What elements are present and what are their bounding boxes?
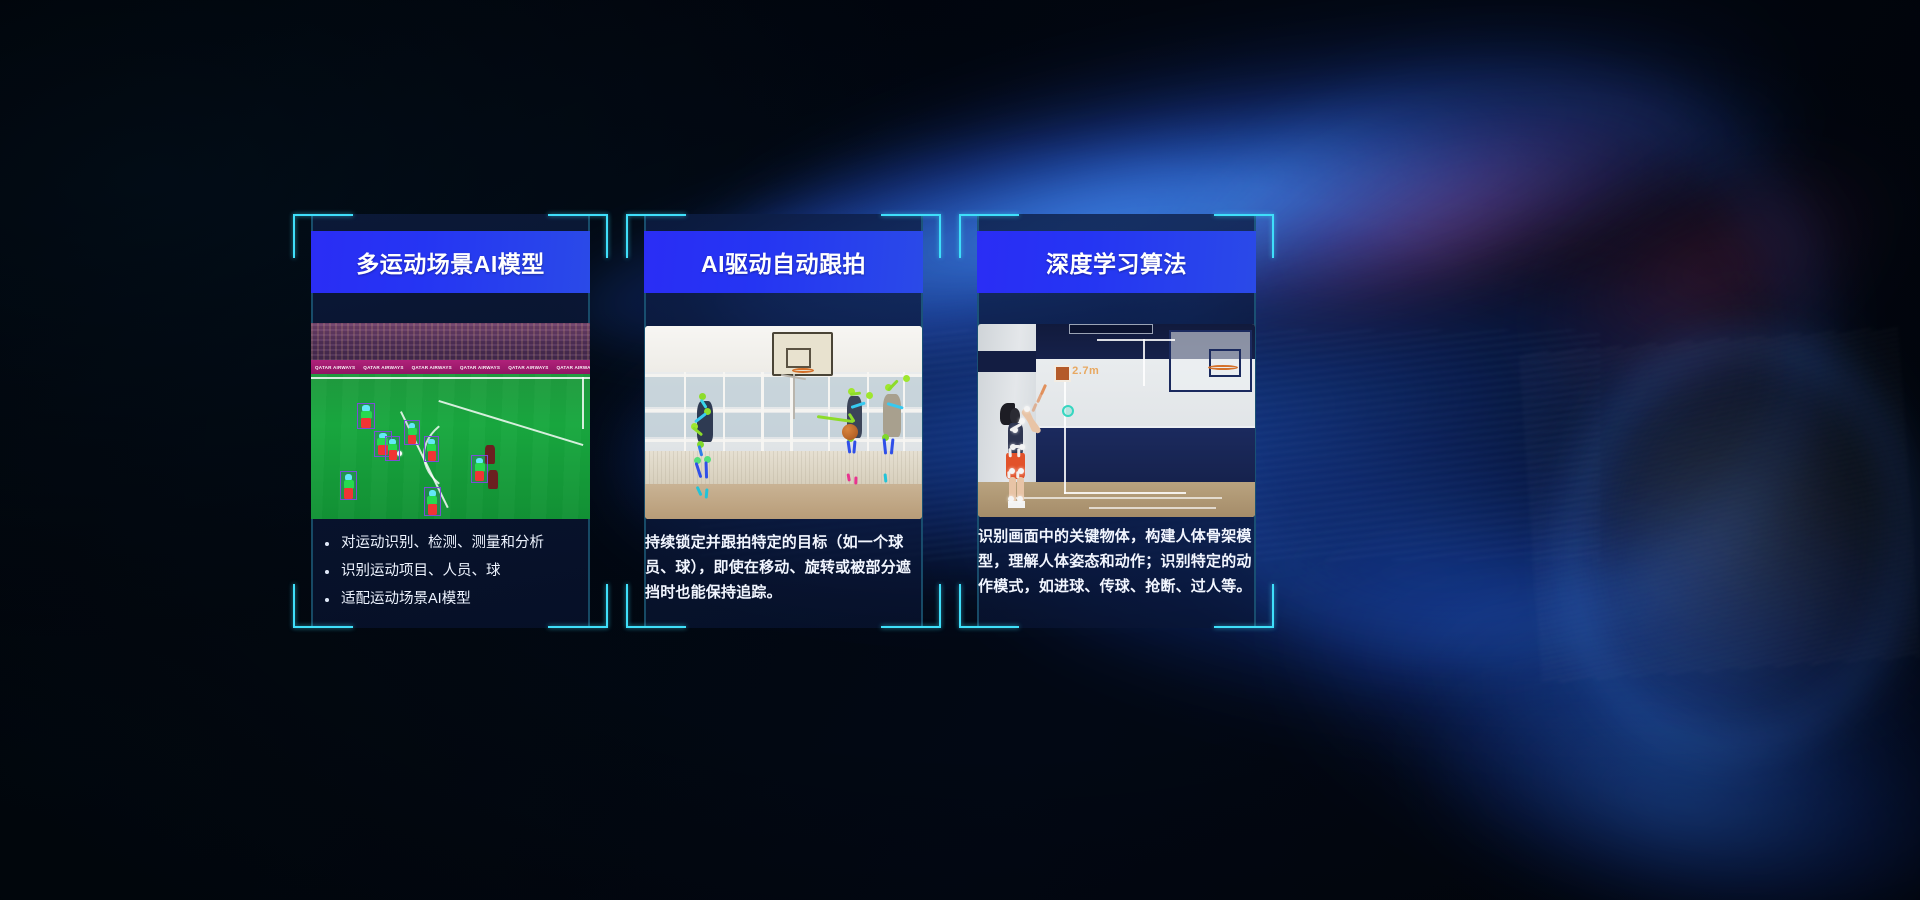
stadium-ad-text: QATAR AIRWAYS [311,365,359,370]
tracking-guide-bottom [1064,492,1186,494]
card-title-text: 深度学习算法 [1046,245,1187,279]
opponent-player [488,470,498,489]
feature-card-row: 多运动场景AI模型 QATAR AIRWAYSQATAR AIRWAYSQATA… [293,214,1275,628]
pose-skeleton [675,392,747,512]
feature-card-deep-learning-algorithm[interactable]: 深度学习算法 [959,214,1274,628]
stadium-ad-text: QATAR AIRWAYS [359,365,407,370]
tracking-guide-left [1064,366,1066,493]
tracking-guide-vertical [1143,339,1145,385]
pitch-line-far [311,377,590,379]
feature-card-ai-auto-tracking[interactable]: AI驱动自动跟拍 [626,214,941,628]
card-body: 识别画面中的关键物体，构建人体骨架模型，理解人体姿态和动作；识别特定的动作模式，… [978,524,1256,599]
basketball-shot-analysis-photo: 2.7m [978,324,1255,517]
feature-description: 识别画面中的关键物体，构建人体骨架模型，理解人体姿态和动作；识别特定的动作模式，… [978,524,1256,599]
list-item: 适配运动场景AI模型 [323,588,590,611]
pose-arm-extended [817,407,856,434]
detection-box [471,455,488,483]
card-title-text: AI驱动自动跟拍 [701,245,866,279]
detection-box [424,436,439,462]
pitch-grass [311,374,590,519]
card-inner: 深度学习算法 [977,214,1256,628]
basketball-pose-tracking-photo [645,326,922,519]
card-body: 持续锁定并跟拍特定的目标（如一个球员、球），即使在移动、旋转或被部分遮挡时也能保… [645,530,923,605]
indoor-gym-scene [645,326,922,519]
feature-card-multi-sport-ai-model[interactable]: 多运动场景AI模型 QATAR AIRWAYSQATAR AIRWAYSQATA… [293,214,608,628]
stadium-ad-text: QATAR AIRWAYS [456,365,504,370]
detection-box [404,420,419,445]
card-title-text: 多运动场景AI模型 [356,245,545,279]
basketball-backboard [1169,330,1252,392]
soccer-detection-photo: QATAR AIRWAYSQATAR AIRWAYSQATAR AIRWAYSQ… [311,323,590,519]
detection-box [357,403,375,429]
scoreboard [1069,324,1152,334]
feature-description: 持续锁定并跟拍特定的目标（如一个球员、球），即使在移动、旋转或被部分遮挡时也能保… [645,530,923,605]
distance-label: 2.7m [1072,365,1099,377]
player-shooting [997,401,1041,509]
stadium-ad-text: QATAR AIRWAYS [504,365,552,370]
list-item: 对运动识别、检测、测量和分析 [323,532,590,555]
stadium-ad-banner: QATAR AIRWAYSQATAR AIRWAYSQATAR AIRWAYSQ… [311,360,590,375]
card-body: 对运动识别、检测、测量和分析 识别运动项目、人员、球 适配运动场景AI模型 [311,532,590,616]
card-title-banner: 多运动场景AI模型 [311,231,590,293]
basketball-hoop-icon [1208,365,1238,370]
gym-wall-pad [1036,426,1255,482]
pitch-line-right [582,377,584,429]
detection-box [385,436,400,461]
hoop-post [793,374,795,418]
list-item: 识别运动项目、人员、球 [323,560,590,583]
detection-box [424,487,441,516]
card-title-banner: 深度学习算法 [977,231,1256,293]
pose-skeleton [872,372,922,507]
ball-tracking-box [1054,365,1071,382]
tracking-guide-horizontal [1097,339,1175,341]
stadium-ad-text: QATAR AIRWAYS [552,365,590,370]
soccer-pitch-scene: QATAR AIRWAYSQATAR AIRWAYSQATAR AIRWAYSQ… [311,323,590,519]
detection-box [340,471,357,500]
gym-left-pad [978,351,1036,372]
card-inner: AI驱动自动跟拍 [644,214,923,628]
card-inner: 多运动场景AI模型 QATAR AIRWAYSQATAR AIRWAYSQATA… [311,214,590,628]
card-title-banner: AI驱动自动跟拍 [644,231,923,293]
stadium-ad-text: QATAR AIRWAYS [408,365,456,370]
feature-bullet-list: 对运动识别、检测、测量和分析 识别运动项目、人员、球 适配运动场景AI模型 [311,532,590,611]
gym-wall-scene: 2.7m [978,324,1255,517]
